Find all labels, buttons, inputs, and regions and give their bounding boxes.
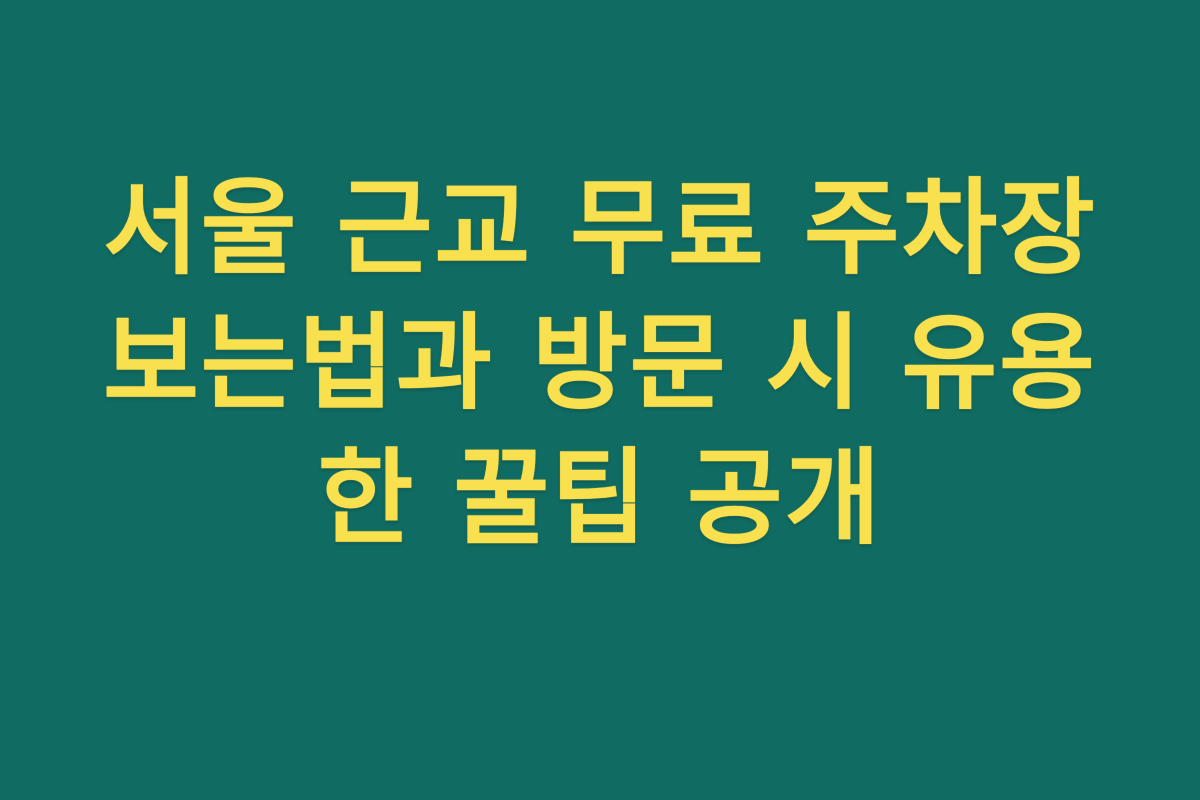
headline-line-1: 서울 근교 무료 주차장 bbox=[100, 161, 1100, 296]
headline-line-3: 한 꿀팁 공개 bbox=[100, 431, 1100, 566]
thumbnail-canvas: 서울 근교 무료 주차장 보는법과 방문 시 유용 한 꿀팁 공개 bbox=[0, 0, 1200, 800]
headline-block: 서울 근교 무료 주차장 보는법과 방문 시 유용 한 꿀팁 공개 bbox=[100, 161, 1100, 566]
headline-line-2: 보는법과 방문 시 유용 bbox=[100, 296, 1100, 431]
